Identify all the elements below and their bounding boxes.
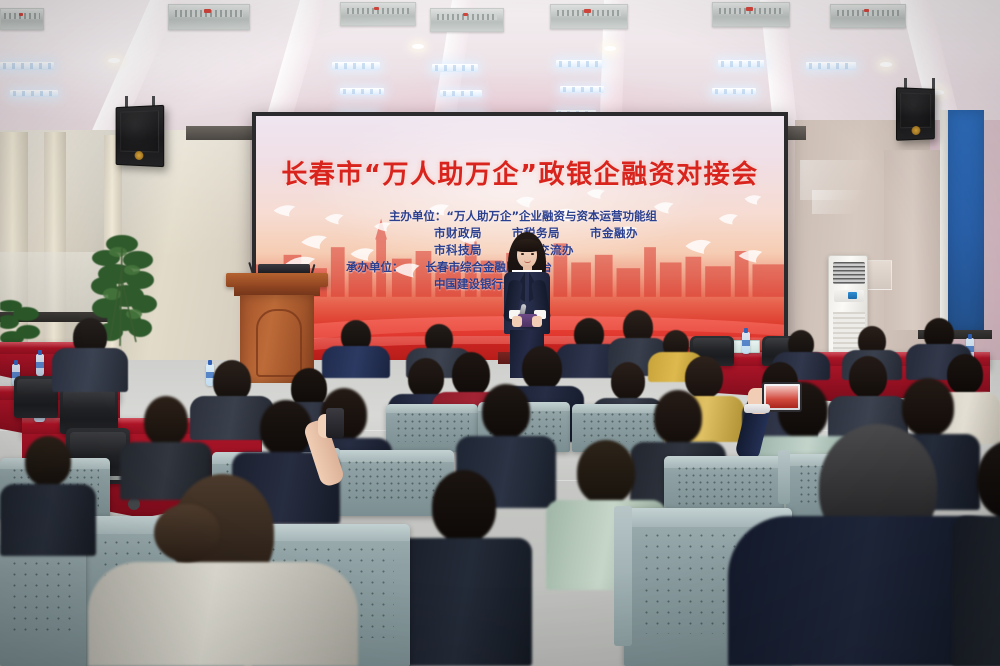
attendee	[396, 470, 532, 666]
attendee-head	[482, 384, 530, 438]
attendee-head	[654, 390, 702, 444]
presenter-eye	[531, 253, 534, 255]
ceiling-downlight	[880, 62, 892, 67]
window-blue-curtain	[948, 110, 984, 332]
ceiling-speaker-left	[116, 105, 165, 167]
presenter-eye	[521, 253, 524, 255]
ceiling-downlight	[412, 44, 424, 49]
smartphone-preview-image	[766, 386, 798, 408]
ceiling-recessed-fixture	[430, 8, 504, 32]
attendee-hair-bun	[154, 504, 220, 562]
podium-top	[226, 273, 328, 287]
ac-badge-icon	[848, 292, 857, 299]
ac-grille	[833, 262, 865, 284]
attendee-head	[977, 440, 1000, 518]
speaker-logo-icon	[135, 151, 144, 160]
ceiling-light-panel	[432, 64, 478, 72]
presenter-hair-fringe	[514, 239, 540, 252]
screen-line-organizer: 主办单位：“万人助万企”企业融资与资本运营功能组	[256, 208, 784, 225]
org-science-bureau: 市科技局	[434, 243, 482, 257]
attendee-torso	[0, 484, 96, 556]
attendee-foreground	[952, 440, 1000, 666]
ceiling-recessed-fixture	[712, 2, 790, 27]
presenter-hand	[532, 316, 542, 327]
host-label: 承办单位：	[346, 260, 404, 274]
attendee-torso	[952, 516, 1000, 666]
ceiling-light-panel	[440, 90, 482, 97]
ceiling-speaker-right	[896, 87, 935, 141]
ceiling-light-panel	[10, 90, 58, 97]
org-finance-bureau: 市财政局	[434, 226, 482, 240]
ceiling-recessed-fixture	[830, 4, 906, 28]
attendee	[52, 318, 128, 392]
ceiling-recessed-fixture	[168, 4, 250, 30]
ceiling-recessed-fixture	[340, 2, 416, 26]
ceiling-recessed-fixture	[0, 8, 44, 30]
ceiling-light-panel	[0, 62, 54, 70]
wristwatch	[744, 404, 770, 413]
conference-hall-photo: 长春市“万人助万企”政银企融资对接会 主办单位：“万人助万企”企业融资与资本运营…	[0, 0, 1000, 666]
presenter-hand	[512, 316, 522, 327]
office-chair	[60, 386, 118, 434]
speaker-logo-icon	[912, 125, 921, 134]
ceiling-downlight	[604, 46, 616, 51]
ceiling-recessed-fixture	[550, 4, 628, 29]
attendee-coat	[88, 562, 358, 666]
attendee-torso	[396, 538, 532, 666]
ceiling-light-panel	[806, 62, 856, 70]
attendee-head	[25, 436, 71, 486]
ceiling-light-panel	[712, 88, 756, 95]
seat-armrest	[614, 506, 632, 646]
attendee	[0, 436, 96, 556]
attendee-head	[432, 470, 496, 542]
attendee-head	[144, 396, 188, 446]
water-bottle	[36, 354, 44, 376]
ceiling-light-panel	[556, 60, 602, 68]
ceiling-light-panel	[560, 86, 604, 93]
attendee-torso	[52, 348, 128, 392]
screen-title: 长春市“万人助万企”政银企融资对接会	[256, 154, 784, 191]
attendee-head	[577, 440, 635, 504]
smartphone	[326, 408, 344, 438]
water-bottle	[742, 332, 750, 354]
attendee-foreground	[88, 474, 358, 666]
ceiling-downlight	[108, 58, 120, 63]
org-finance-office: 市金融办	[590, 226, 638, 240]
right-wall-panel	[884, 150, 942, 330]
ceiling-light-panel	[340, 88, 384, 95]
ceiling-light-panel	[718, 60, 764, 68]
ceiling-light-panel	[332, 62, 380, 70]
